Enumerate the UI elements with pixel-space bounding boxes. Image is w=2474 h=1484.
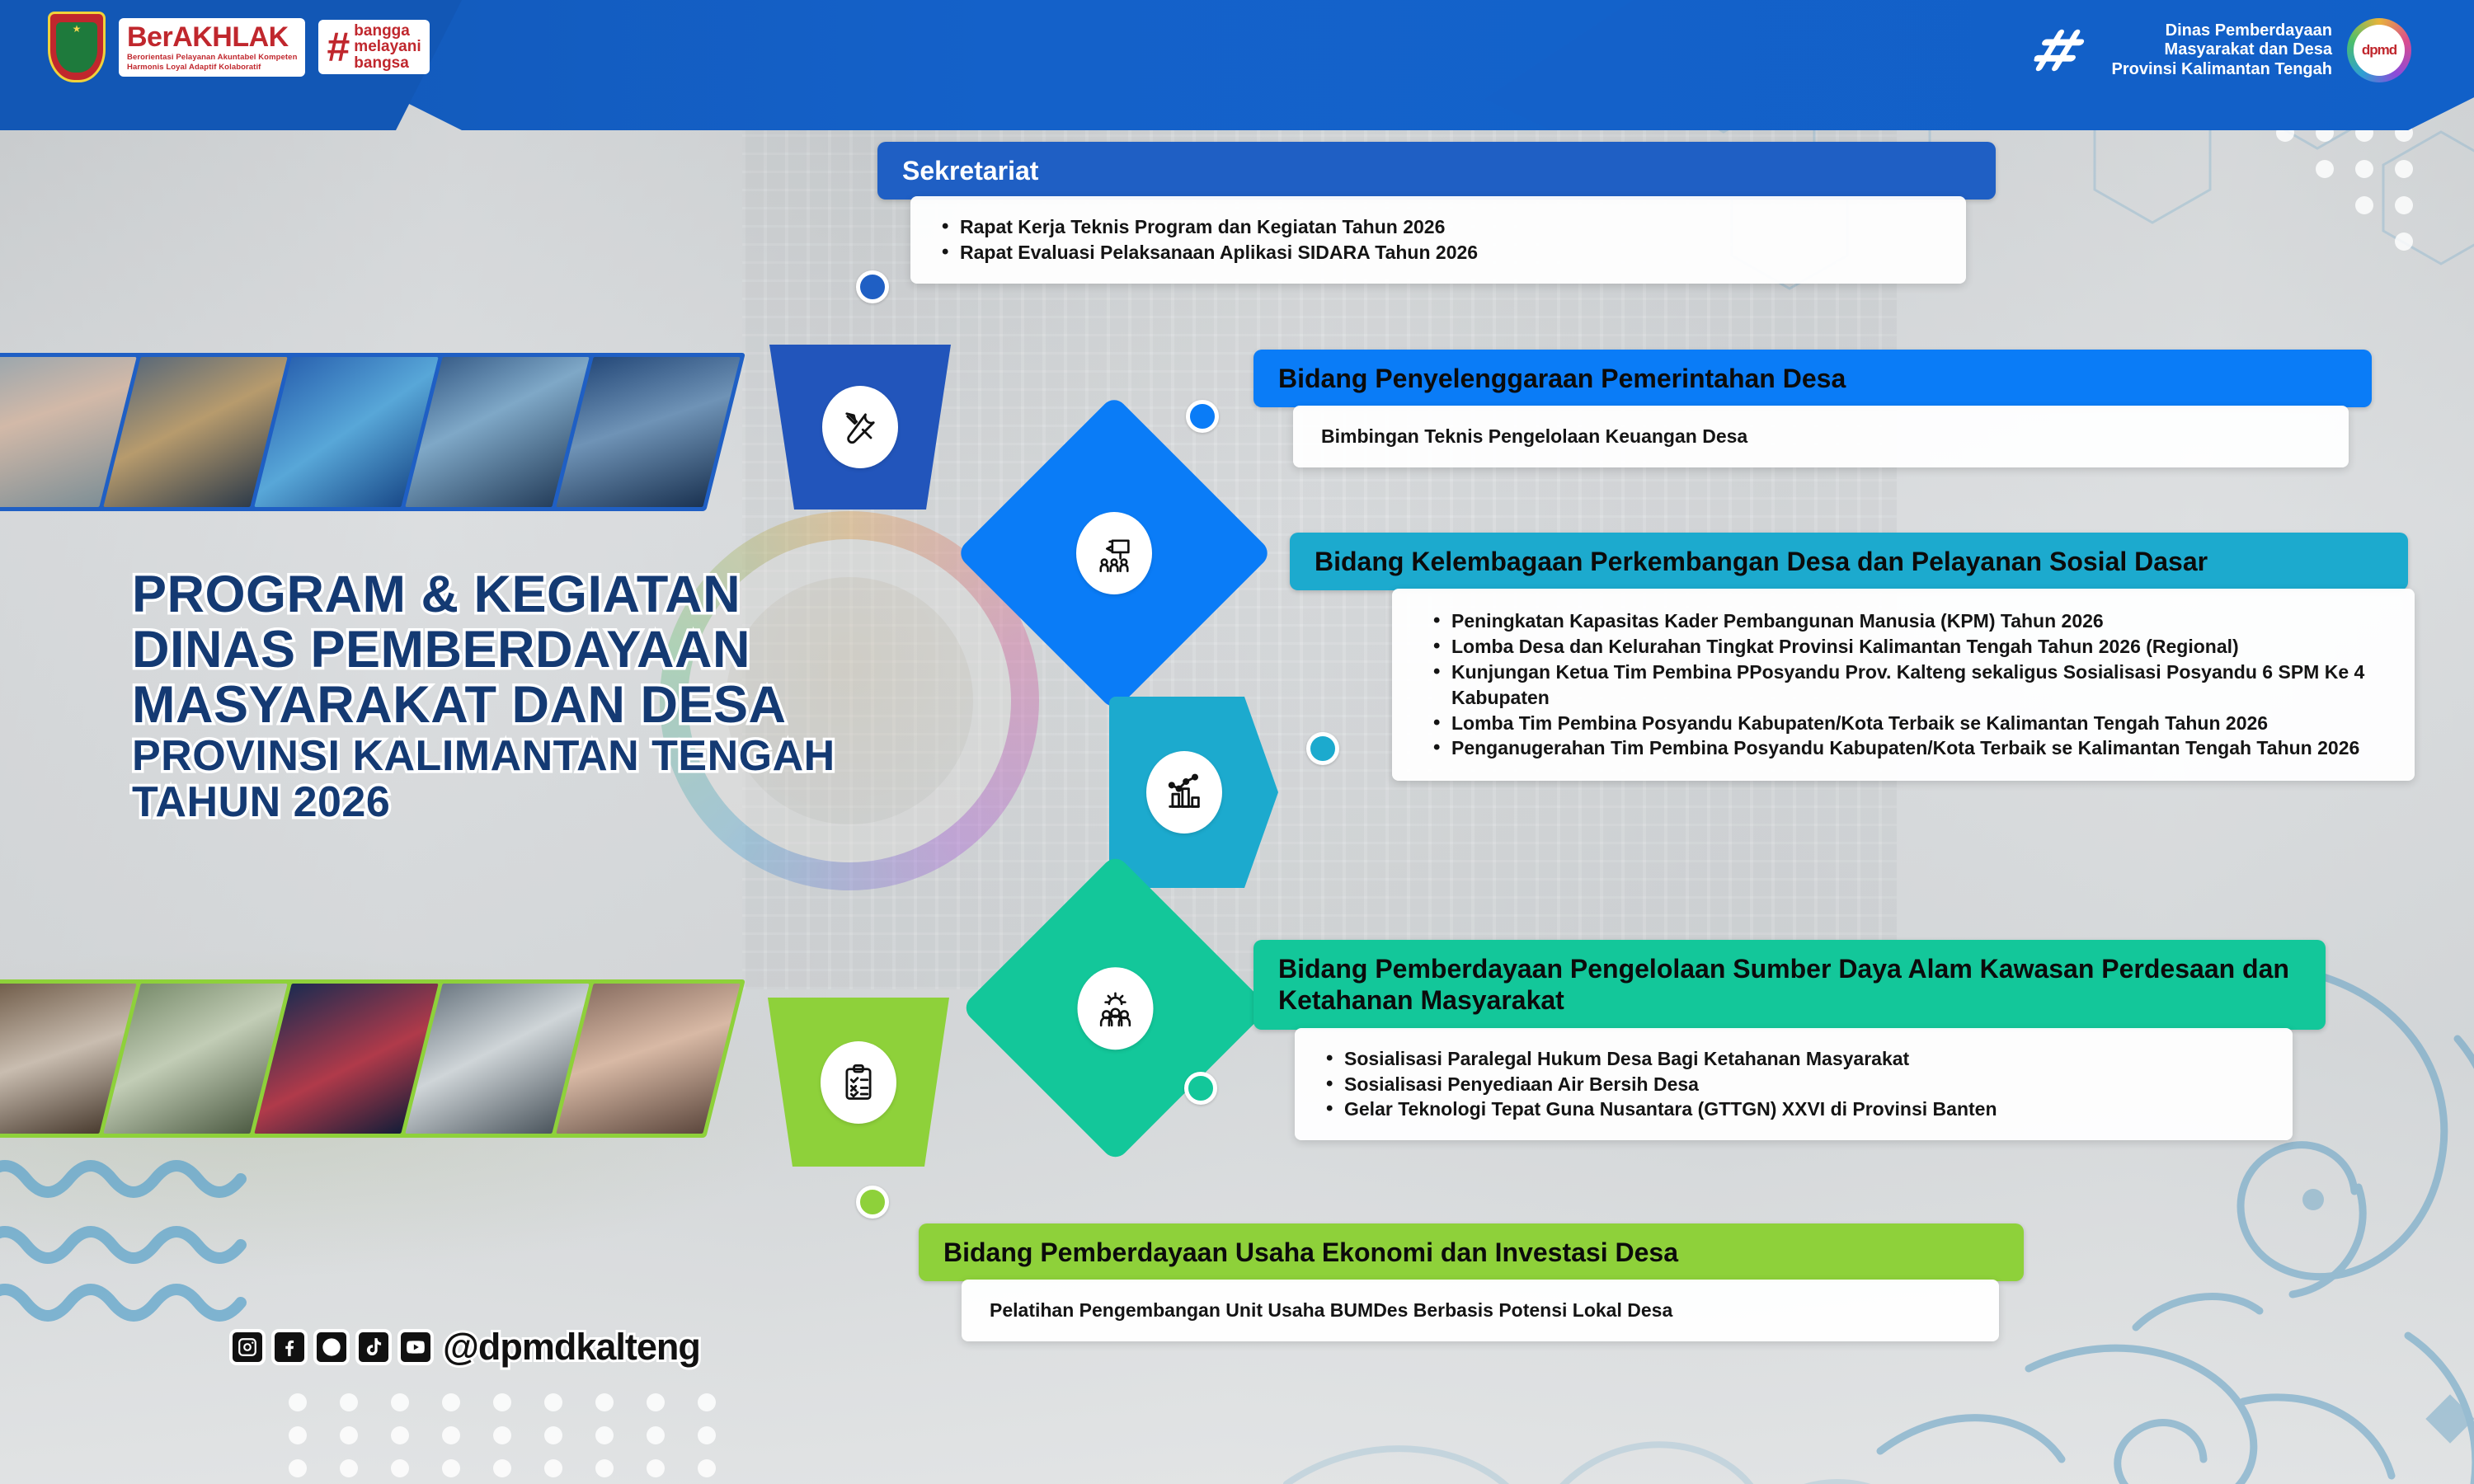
header-left-logos: ★ BerAKHLAK Berorientasi Pelayanan Akunt… bbox=[48, 12, 430, 82]
list-item: Pelatihan Pengembangan Unit Usaha BUMDes… bbox=[990, 1298, 1971, 1323]
section-header-pemerintahan-desa[interactable]: Bidang Penyelenggaraan Pemerintahan Desa bbox=[1253, 350, 2372, 407]
list-item: Kunjungan Ketua Tim Pembina PPosyandu Pr… bbox=[1430, 660, 2377, 711]
page-title-line-2: DINAS PEMBERDAYAAN bbox=[132, 624, 1056, 676]
page-title-line-3: MASYARAKAT DAN DESA bbox=[132, 679, 1056, 731]
list-item: Gelar Teknologi Tepat Guna Nusantara (GT… bbox=[1323, 1097, 2265, 1122]
dot-grid-top-right bbox=[2276, 124, 2458, 338]
bangga-hash-icon: # bbox=[327, 29, 350, 66]
header-org-line-2: Masyarakat dan Desa bbox=[2112, 40, 2332, 60]
clipboard-checklist-icon bbox=[821, 1041, 896, 1124]
list-item: Bimbingan Teknis Pengelolaan Keuangan De… bbox=[1321, 424, 2321, 449]
section-pemerintahan-desa: Bidang Penyelenggaraan Pemerintahan Desa… bbox=[1253, 350, 2372, 467]
berakhlak-subtitle-2: Harmonis Loyal Adaptif Kolaboratif bbox=[127, 63, 297, 72]
presentation-training-icon bbox=[1076, 512, 1152, 594]
page-title-line-4: PROVINSI KALIMANTAN TENGAH bbox=[132, 735, 1056, 777]
section-header-sumber-daya-alam[interactable]: Bidang Pemberdayaan Pengelolaan Sumber D… bbox=[1253, 940, 2326, 1030]
connector-dot-usaha bbox=[856, 1186, 889, 1219]
badge-shape-kelembagaan bbox=[1109, 697, 1278, 888]
infographic-canvas: ★ BerAKHLAK Berorientasi Pelayanan Akunt… bbox=[0, 0, 2474, 1484]
list-item: Lomba Desa dan Kelurahan Tingkat Provins… bbox=[1430, 634, 2377, 660]
section-body-pemerintahan-desa: Bimbingan Teknis Pengelolaan Keuangan De… bbox=[1293, 406, 2349, 467]
dpmd-logo-text: dpmd bbox=[2354, 25, 2405, 76]
bangga-line-3: bangsa bbox=[354, 55, 421, 71]
connector-dot-sda bbox=[1184, 1072, 1217, 1105]
header-org-line-1: Dinas Pemberdayaan bbox=[2112, 21, 2332, 41]
people-gear-icon bbox=[1078, 967, 1154, 1050]
connector-dot-pemerintahan bbox=[1186, 400, 1219, 433]
list-item: Peningkatan Kapasitas Kader Pembangunan … bbox=[1430, 608, 2377, 634]
section-body-sekretariat: Rapat Kerja Teknis Program dan Kegiatan … bbox=[910, 196, 1966, 284]
dpmd-logo-badge: dpmd bbox=[2347, 18, 2411, 82]
header-right-branding: Dinas Pemberdayaan Masyarakat dan Desa P… bbox=[2036, 18, 2411, 82]
section-sekretariat: Sekretariat Rapat Kerja Teknis Program d… bbox=[877, 142, 1996, 284]
list-item: Lomba Tim Pembina Posyandu Kabupaten/Kot… bbox=[1430, 711, 2377, 736]
section-body-usaha-ekonomi: Pelatihan Pengembangan Unit Usaha BUMDes… bbox=[962, 1280, 1999, 1341]
section-body-sumber-daya-alam: Sosialisasi Paralegal Hukum Desa Bagi Ke… bbox=[1295, 1028, 2293, 1140]
photo-strip-top bbox=[0, 353, 745, 511]
section-header-kelembagaan[interactable]: Bidang Kelembagaan Perkembangan Desa dan… bbox=[1290, 533, 2408, 590]
bangga-line-2: melayani bbox=[354, 39, 421, 54]
list-item: Rapat Evaluasi Pelaksanaan Aplikasi SIDA… bbox=[938, 240, 1938, 265]
berakhlak-title: BerAKHLAK bbox=[127, 23, 297, 51]
website-globe-icon[interactable] bbox=[313, 1329, 350, 1365]
page-title-line-1: PROGRAM & KEGIATAN bbox=[132, 569, 1056, 621]
social-footer: @dpmdkalteng bbox=[229, 1326, 700, 1369]
section-body-kelembagaan: Peningkatan Kapasitas Kader Pembangunan … bbox=[1392, 589, 2415, 781]
list-item: Rapat Kerja Teknis Program dan Kegiatan … bbox=[938, 214, 1938, 240]
page-title-line-5: TAHUN 2026 bbox=[132, 781, 1056, 824]
list-item: Sosialisasi Paralegal Hukum Desa Bagi Ke… bbox=[1323, 1046, 2265, 1072]
list-item: Penganugerahan Tim Pembina Posyandu Kabu… bbox=[1430, 735, 2377, 761]
section-kelembagaan: Bidang Kelembagaan Perkembangan Desa dan… bbox=[1290, 533, 2408, 781]
section-usaha-ekonomi: Bidang Pemberdayaan Usaha Ekonomi dan In… bbox=[919, 1223, 2024, 1341]
kalteng-coat-of-arms-icon: ★ bbox=[48, 12, 106, 82]
page-title: PROGRAM & KEGIATAN DINAS PEMBERDAYAAN MA… bbox=[132, 569, 1056, 827]
facebook-icon[interactable] bbox=[271, 1329, 308, 1365]
dot-grid-bottom-left bbox=[289, 1393, 750, 1484]
hashtag-icon bbox=[2030, 25, 2102, 76]
list-item: Sosialisasi Penyediaan Air Bersih Desa bbox=[1323, 1072, 2265, 1097]
section-header-usaha-ekonomi[interactable]: Bidang Pemberdayaan Usaha Ekonomi dan In… bbox=[919, 1223, 2024, 1281]
header-org-line-3: Provinsi Kalimantan Tengah bbox=[2112, 60, 2332, 80]
tiktok-icon[interactable] bbox=[355, 1329, 392, 1365]
photo-strip-bottom bbox=[0, 979, 745, 1138]
social-handle: @dpmdkalteng bbox=[443, 1326, 700, 1369]
section-header-sekretariat[interactable]: Sekretariat bbox=[877, 142, 1996, 200]
tools-icon bbox=[822, 386, 898, 468]
instagram-icon[interactable] bbox=[229, 1329, 266, 1365]
youtube-icon[interactable] bbox=[397, 1329, 434, 1365]
bangga-line-1: bangga bbox=[354, 23, 421, 39]
wave-lines-decoration bbox=[0, 1154, 330, 1336]
bar-chart-icon bbox=[1146, 751, 1222, 834]
berakhlak-subtitle-1: Berorientasi Pelayanan Akuntabel Kompete… bbox=[127, 54, 297, 62]
section-sumber-daya-alam: Bidang Pemberdayaan Pengelolaan Sumber D… bbox=[1253, 940, 2326, 1140]
